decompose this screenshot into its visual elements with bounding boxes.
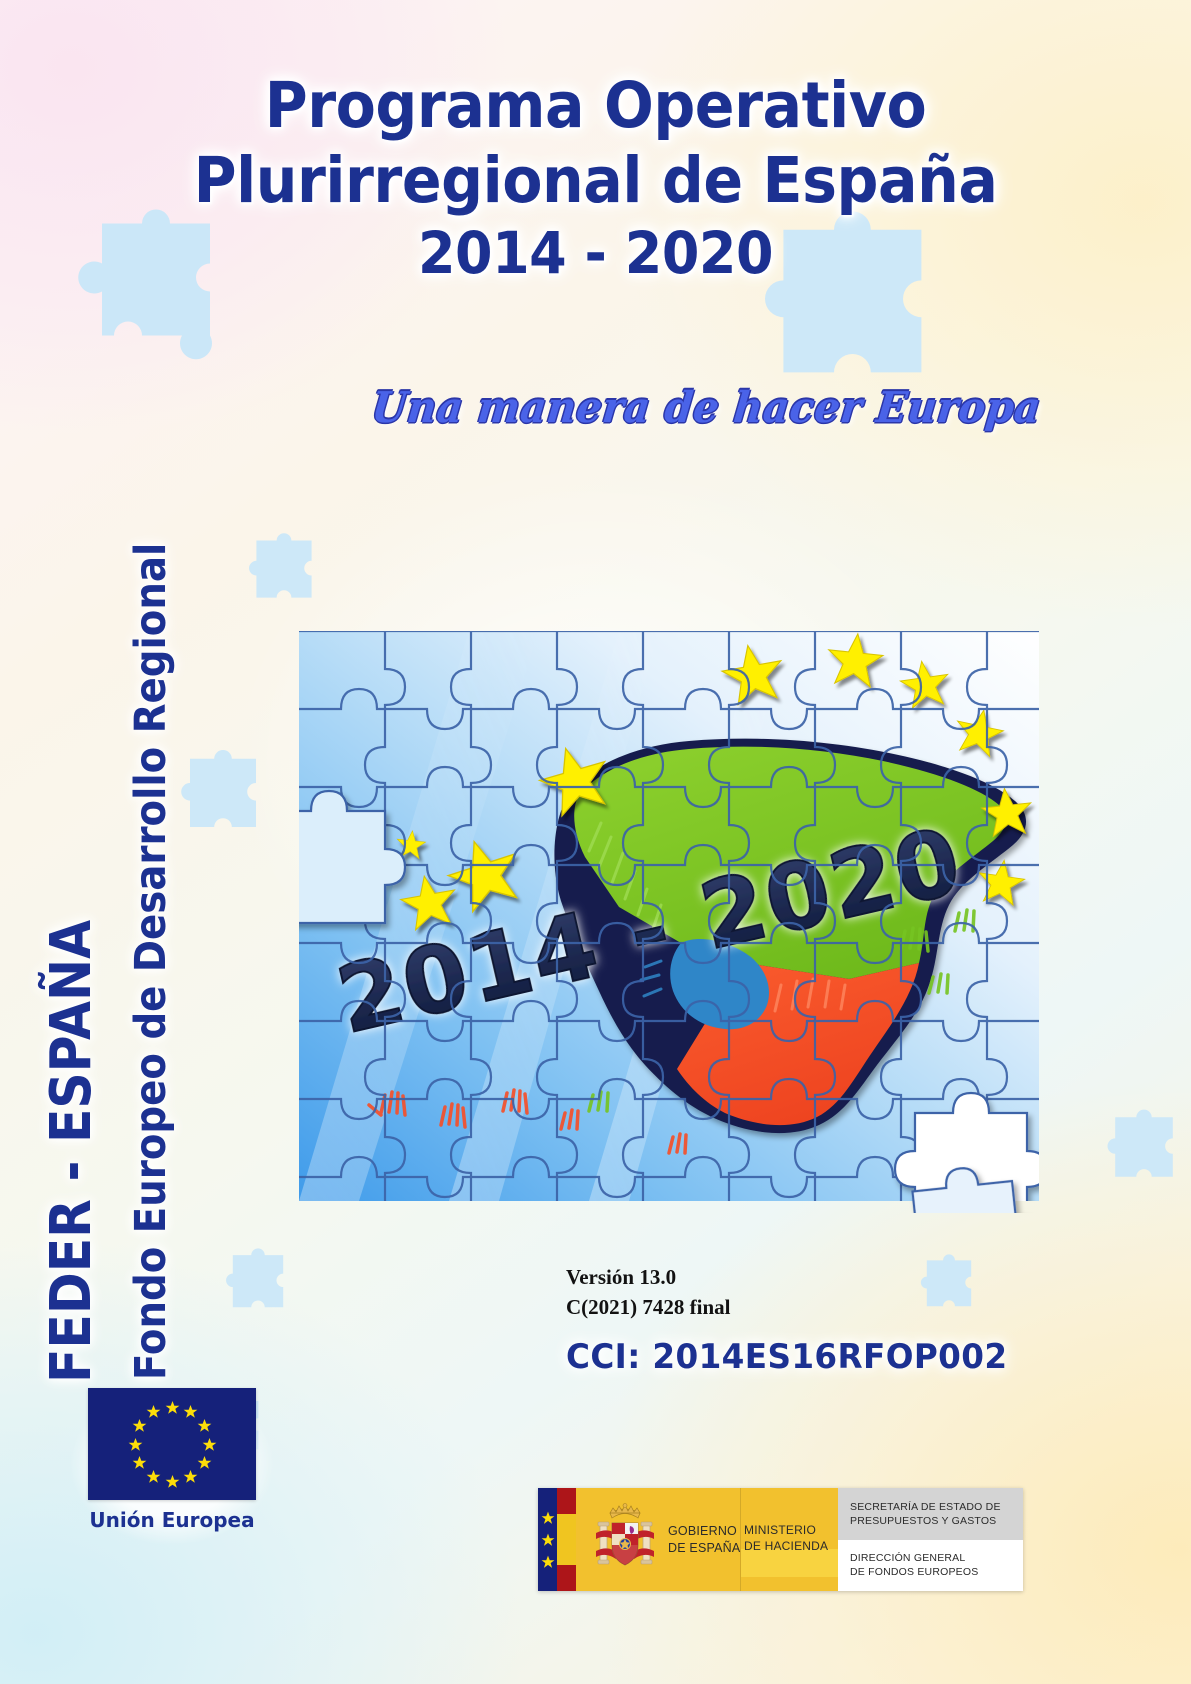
gobierno-panel: GOBIERNO DE ESPAÑA MINISTERIO DE HACIEND…: [576, 1488, 838, 1591]
eu-flag: [88, 1388, 256, 1500]
title-line-3: 2014 - 2020: [42, 224, 1150, 282]
bg-puzzle-piece-lowright: [912, 1244, 986, 1324]
ministerio-labels: MINISTERIO DE HACIENDA: [744, 1522, 832, 1554]
bg-puzzle-piece-left-small: [238, 520, 330, 620]
version-block: Versión 13.0 C(2021) 7428 final: [566, 1262, 731, 1323]
decision-reference: C(2021) 7428 final: [566, 1292, 731, 1322]
star-icon: [165, 1474, 180, 1489]
side-title-fondo-europeo: Fondo Europeo de Desarrollo Regional: [126, 450, 176, 1380]
star-icon: [132, 1418, 147, 1433]
star-icon: [165, 1400, 180, 1415]
gobierno-line-1: GOBIERNO: [668, 1523, 740, 1540]
star-icon: [197, 1418, 212, 1433]
spain-coat-of-arms-icon: [594, 1503, 656, 1577]
direccion-line-2: DE FONDOS EUROPEOS: [850, 1565, 978, 1579]
title-line-1: Programa Operativo: [42, 74, 1150, 137]
tagline: Una manera de hacer Europa: [370, 383, 1044, 433]
star-icon: [132, 1455, 147, 1470]
side-title-feder-espana: FEDER - ESPAÑA: [39, 868, 104, 1383]
eu-logo-caption: Unión Europea: [78, 1508, 266, 1532]
title-line-2: Plurirregional de España: [42, 149, 1150, 212]
direccion-line-1: DIRECCIÓN GENERAL: [850, 1551, 978, 1565]
european-union-logo: Unión Europea: [62, 1372, 282, 1557]
secretaria-line-1: SECRETARÍA DE ESTADO DE: [850, 1500, 1001, 1514]
page-title: Programa Operativo Plurirregional de Esp…: [0, 74, 1191, 282]
spain-puzzle-map-illustration: 2014 - 2020: [289, 613, 1049, 1213]
side-title-feder-espana-label: FEDER - ESPAÑA: [39, 920, 104, 1383]
side-title-fondo-europeo-label: Fondo Europeo de Desarrollo Regional: [126, 543, 176, 1380]
gov-right-panels: SECRETARÍA DE ESTADO DE PRESUPUESTOS Y G…: [838, 1488, 1023, 1591]
star-icon: [146, 1404, 161, 1419]
bg-puzzle-piece-lowleft: [216, 1236, 300, 1328]
star-icon: [197, 1455, 212, 1470]
cover-page: Programa Operativo Plurirregional de Esp…: [0, 0, 1191, 1684]
spanish-flag-strip: [538, 1488, 576, 1591]
star-icon: [128, 1437, 143, 1452]
version-number: Versión 13.0: [566, 1262, 731, 1292]
star-icon: [541, 1555, 555, 1569]
gobierno-de-espana-logo-bar: GOBIERNO DE ESPAÑA MINISTERIO DE HACIEND…: [538, 1488, 1023, 1591]
ministerio-line-1: MINISTERIO: [744, 1522, 832, 1538]
star-icon: [202, 1437, 217, 1452]
bg-puzzle-piece-rightedge: [1096, 1096, 1191, 1200]
eu-blue-strip: [538, 1488, 557, 1591]
spain-flag-bands: [557, 1488, 576, 1591]
star-icon: [541, 1511, 555, 1525]
gobierno-labels: GOBIERNO DE ESPAÑA: [668, 1523, 740, 1557]
star-icon: [183, 1469, 198, 1484]
secretaria-line-2: PRESUPUESTOS Y GASTOS: [850, 1514, 1001, 1528]
star-icon: [541, 1533, 555, 1547]
star-icon: [146, 1469, 161, 1484]
bg-puzzle-piece-midleft: [168, 735, 278, 853]
direccion-panel: DIRECCIÓN GENERAL DE FONDOS EUROPEOS: [838, 1540, 1023, 1592]
secretaria-panel: SECRETARÍA DE ESTADO DE PRESUPUESTOS Y G…: [838, 1488, 1023, 1540]
cci-code: CCI: 2014ES16RFOP002: [566, 1337, 1007, 1377]
ministerio-line-2: DE HACIENDA: [744, 1538, 832, 1554]
gobierno-line-2: DE ESPAÑA: [668, 1540, 740, 1557]
